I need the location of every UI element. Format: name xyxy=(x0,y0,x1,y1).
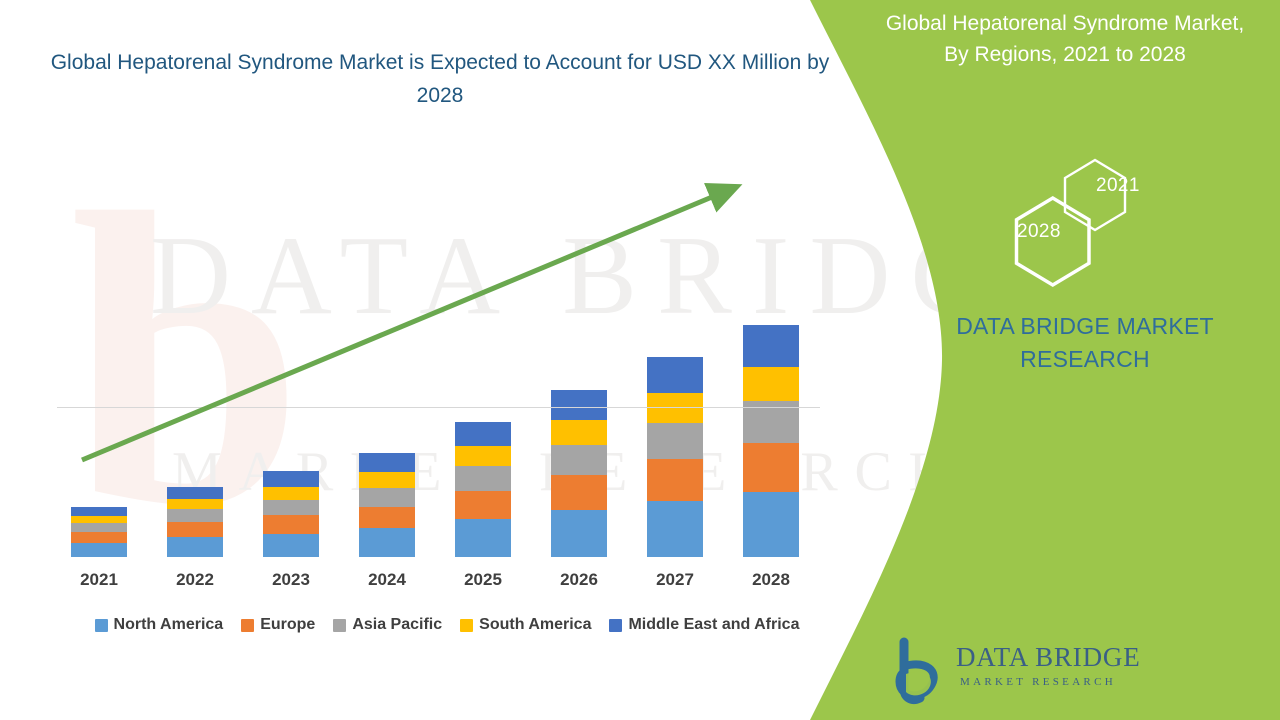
legend-label: South America xyxy=(479,616,591,634)
bar-segment xyxy=(551,445,607,475)
x-axis-label-2025: 2025 xyxy=(453,570,513,590)
bar-segment xyxy=(647,501,703,557)
bar-group-2028 xyxy=(743,325,799,557)
legend-swatch-icon xyxy=(609,619,622,632)
bar-segment xyxy=(71,532,127,542)
hexagon-label-2028: 2028 xyxy=(1017,221,1061,243)
legend-label: North America xyxy=(114,616,224,634)
bar-group-2021 xyxy=(71,507,127,557)
bar-segment xyxy=(647,357,703,393)
x-axis-label-2022: 2022 xyxy=(165,570,225,590)
panel-title: Global Hepatorenal Syndrome Market, By R… xyxy=(850,8,1280,70)
legend-label: Asia Pacific xyxy=(352,616,442,634)
bar-group-2026 xyxy=(551,390,607,557)
bar-segment xyxy=(359,528,415,557)
bar-segment xyxy=(551,390,607,420)
bar-segment xyxy=(167,509,223,521)
bar-segment xyxy=(743,492,799,557)
x-axis-label-2023: 2023 xyxy=(261,570,321,590)
data-bridge-logo-text: DATA BRIDGE xyxy=(956,642,1141,673)
legend-item[interactable]: South America xyxy=(460,616,591,634)
brand-name: DATA BRIDGE MARKET RESEARCH xyxy=(900,310,1270,376)
legend-label: Middle East and Africa xyxy=(628,616,799,634)
bar-segment xyxy=(743,443,799,492)
bar-segment xyxy=(455,491,511,519)
bar-segment xyxy=(167,522,223,537)
brand-name-line1: DATA BRIDGE MARKET xyxy=(956,313,1214,339)
data-bridge-logo: DATA BRIDGE MARKET RESEARCH xyxy=(884,636,954,711)
x-axis-labels: 20212022202320242025202620272028 xyxy=(0,570,860,596)
legend-swatch-icon xyxy=(460,619,473,632)
bar-group-2023 xyxy=(263,471,319,557)
bar-group-2022 xyxy=(167,487,223,557)
bar-segment xyxy=(743,325,799,367)
bar-segment xyxy=(167,487,223,499)
brand-name-line2: RESEARCH xyxy=(1020,346,1150,372)
bar-segment xyxy=(359,453,415,472)
legend-label: Europe xyxy=(260,616,315,634)
bar-segment xyxy=(71,507,127,516)
bar-segment xyxy=(71,543,127,557)
bar-segment xyxy=(359,472,415,488)
bar-segment xyxy=(551,420,607,445)
x-axis-label-2028: 2028 xyxy=(741,570,801,590)
legend-item[interactable]: North America xyxy=(95,616,224,634)
bar-segment xyxy=(551,475,607,510)
bar-segment xyxy=(71,523,127,532)
bar-segment xyxy=(167,537,223,557)
legend-swatch-icon xyxy=(333,619,346,632)
chart-title-line1: Global Hepatorenal Syndrome Market is Ex… xyxy=(51,51,652,74)
legend-item[interactable]: Europe xyxy=(241,616,315,634)
x-axis-label-2021: 2021 xyxy=(69,570,129,590)
bar-stack-container xyxy=(0,150,860,558)
data-bridge-logo-icon xyxy=(884,636,954,706)
x-axis-line xyxy=(57,407,820,408)
chart-plot-area xyxy=(0,150,860,570)
bar-group-2025 xyxy=(455,422,511,557)
slide-canvas: b DATA BRIDGE MARKET RESEARCH Global Hep… xyxy=(0,0,1280,720)
bar-segment xyxy=(71,516,127,523)
bar-group-2027 xyxy=(647,357,703,557)
bar-segment xyxy=(263,487,319,500)
bar-segment xyxy=(263,500,319,516)
chart-title: Global Hepatorenal Syndrome Market is Ex… xyxy=(40,46,840,112)
x-axis-label-2026: 2026 xyxy=(549,570,609,590)
bar-segment xyxy=(263,534,319,557)
bar-segment xyxy=(455,466,511,490)
legend-item[interactable]: Middle East and Africa xyxy=(609,616,799,634)
bar-segment xyxy=(455,422,511,446)
panel-title-line2: By Regions, 2021 to 2028 xyxy=(850,39,1280,70)
hexagon-badges: 2021 2028 xyxy=(985,148,1185,288)
legend-swatch-icon xyxy=(241,619,254,632)
legend-item[interactable]: Asia Pacific xyxy=(333,616,442,634)
bar-segment xyxy=(455,519,511,557)
x-axis-label-2024: 2024 xyxy=(357,570,417,590)
x-axis-label-2027: 2027 xyxy=(645,570,705,590)
bar-segment xyxy=(359,488,415,507)
bar-segment xyxy=(263,471,319,487)
bar-segment xyxy=(263,515,319,533)
legend-swatch-icon xyxy=(95,619,108,632)
chart-legend: North AmericaEuropeAsia PacificSouth Ame… xyxy=(52,616,842,634)
bar-group-2024 xyxy=(359,453,415,557)
bar-segment xyxy=(455,446,511,466)
bar-segment xyxy=(647,423,703,459)
bar-segment xyxy=(647,459,703,501)
bar-segment xyxy=(359,507,415,529)
bar-segment xyxy=(743,367,799,402)
bar-segment xyxy=(551,510,607,557)
bar-segment xyxy=(167,499,223,509)
hexagon-label-2021: 2021 xyxy=(1096,175,1140,197)
data-bridge-logo-subtext: MARKET RESEARCH xyxy=(960,676,1116,688)
panel-title-line1: Global Hepatorenal Syndrome Market, xyxy=(886,12,1244,35)
